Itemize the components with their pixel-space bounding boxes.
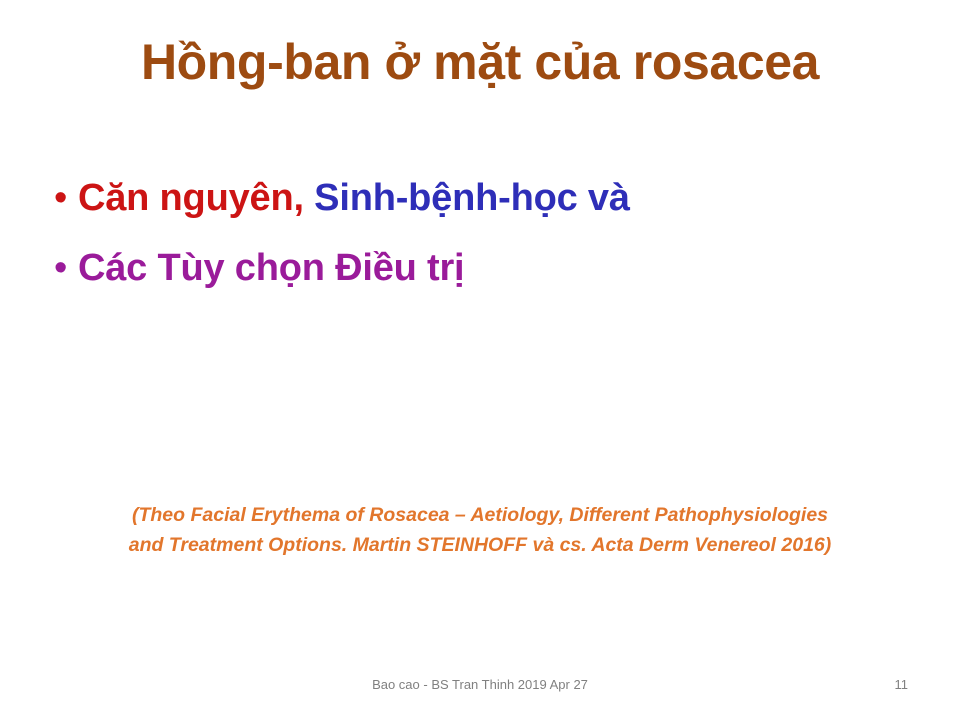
source-citation: (Theo Facial Erythema of Rosacea – Aetio… — [60, 500, 900, 560]
list-item-label: Căn nguyên, Sinh-bệnh-học và — [78, 172, 924, 224]
list-item-run-treatment-options: Các Tùy chọn Điều trị — [78, 247, 464, 289]
list-item-run-cause: Căn nguyên, — [78, 177, 304, 219]
list-item[interactable]: • Căn nguyên, Sinh-bệnh-học và — [44, 172, 924, 224]
citation-line-2: and Treatment Options. Martin STEINHOFF … — [60, 530, 900, 560]
bullet-list: • Căn nguyên, Sinh-bệnh-học và • Các Tùy… — [44, 172, 924, 312]
bullet-dot-icon: • — [44, 172, 78, 224]
footer-note: Bao cao - BS Tran Thinh 2019 Apr 27 — [0, 674, 960, 696]
slide-canvas: Hồng-ban ở mặt của rosacea • Căn nguyên,… — [0, 0, 960, 720]
slide-footer: Bao cao - BS Tran Thinh 2019 Apr 27 11 — [0, 674, 960, 696]
bullet-dot-icon: • — [44, 242, 78, 294]
list-item-label: Các Tùy chọn Điều trị — [78, 242, 924, 294]
slide-number: 11 — [895, 674, 909, 696]
page-title: Hồng-ban ở mặt của rosacea — [0, 32, 960, 92]
citation-line-1: (Theo Facial Erythema of Rosacea – Aetio… — [60, 500, 900, 530]
list-item[interactable]: • Các Tùy chọn Điều trị — [44, 242, 924, 294]
list-item-run-pathophysiology: Sinh-bệnh-học và — [304, 177, 630, 219]
